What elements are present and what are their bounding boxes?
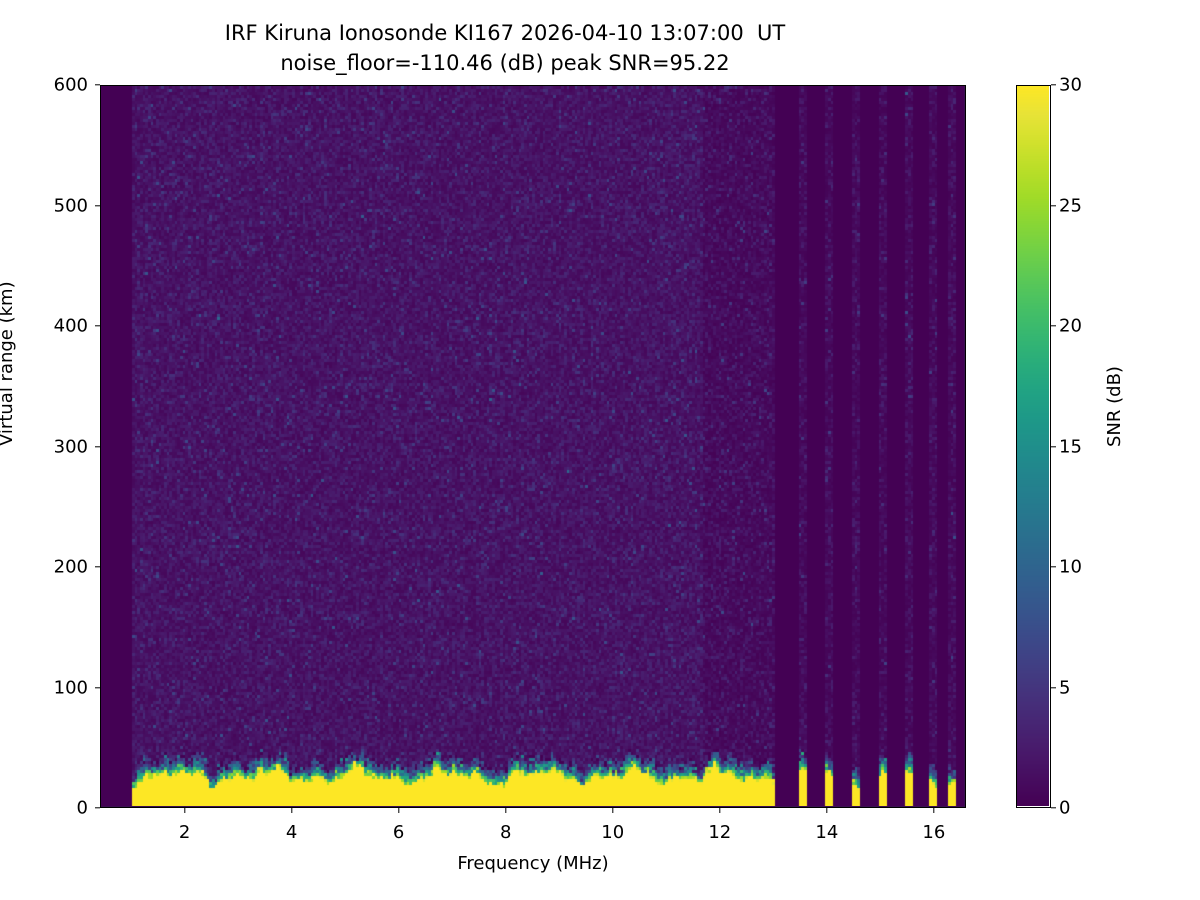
colorbar-tick-mark — [1051, 687, 1056, 688]
y-tick-mark — [95, 566, 100, 567]
y-tick-mark — [95, 84, 100, 85]
ionogram-heatmap — [101, 86, 964, 806]
x-tick-mark — [291, 808, 292, 813]
colorbar-tick-label: 0 — [1059, 798, 1070, 819]
colorbar-tick-label: 5 — [1059, 677, 1070, 698]
y-tick-label: 500 — [32, 195, 88, 216]
colorbar-tick-mark — [1051, 325, 1056, 326]
colorbar[interactable] — [1016, 85, 1051, 808]
x-tick-label: 6 — [369, 822, 429, 843]
title-line-1: IRF Kiruna Ionosonde KI167 2026-04-10 13… — [0, 18, 1010, 48]
ionogram-figure: IRF Kiruna Ionosonde KI167 2026-04-10 13… — [0, 0, 1200, 900]
colorbar-label: SNR (dB) — [1104, 366, 1125, 447]
colorbar-tick-mark — [1051, 205, 1056, 206]
colorbar-tick-label: 10 — [1059, 557, 1082, 578]
y-tick-label: 600 — [32, 75, 88, 96]
y-tick-label: 400 — [32, 316, 88, 337]
x-tick-mark — [719, 808, 720, 813]
y-tick-label: 0 — [32, 798, 88, 819]
x-tick-mark — [612, 808, 613, 813]
x-tick-label: 8 — [476, 822, 536, 843]
x-tick-label: 10 — [583, 822, 643, 843]
y-tick-mark — [95, 205, 100, 206]
y-tick-label: 200 — [32, 557, 88, 578]
x-tick-label: 14 — [797, 822, 857, 843]
colorbar-tick-mark — [1051, 807, 1056, 808]
y-tick-mark — [95, 687, 100, 688]
colorbar-tick-label: 20 — [1059, 316, 1082, 337]
y-tick-label: 100 — [32, 677, 88, 698]
title-line-2: noise_floor=-110.46 (dB) peak SNR=95.22 — [0, 48, 1010, 78]
colorbar-tick-label: 25 — [1059, 195, 1082, 216]
x-axis-label: Frequency (MHz) — [100, 853, 966, 874]
x-tick-label: 4 — [262, 822, 322, 843]
y-tick-label: 300 — [32, 436, 88, 457]
x-tick-mark — [505, 808, 506, 813]
y-tick-mark — [95, 446, 100, 447]
x-tick-mark — [398, 808, 399, 813]
x-tick-label: 12 — [690, 822, 750, 843]
ionogram-plot-area[interactable] — [100, 85, 966, 808]
colorbar-tick-mark — [1051, 566, 1056, 567]
x-tick-mark — [184, 808, 185, 813]
x-tick-mark — [933, 808, 934, 813]
colorbar-tick-label: 15 — [1059, 436, 1082, 457]
x-tick-label: 16 — [904, 822, 964, 843]
y-tick-mark — [95, 325, 100, 326]
figure-title: IRF Kiruna Ionosonde KI167 2026-04-10 13… — [0, 18, 1010, 78]
colorbar-tick-mark — [1051, 446, 1056, 447]
colorbar-tick-label: 30 — [1059, 75, 1082, 96]
x-tick-label: 2 — [155, 822, 215, 843]
y-axis-label: Virtual range (km) — [0, 281, 17, 446]
y-tick-mark — [95, 807, 100, 808]
x-tick-mark — [826, 808, 827, 813]
colorbar-tick-mark — [1051, 84, 1056, 85]
colorbar-gradient — [1017, 86, 1049, 806]
